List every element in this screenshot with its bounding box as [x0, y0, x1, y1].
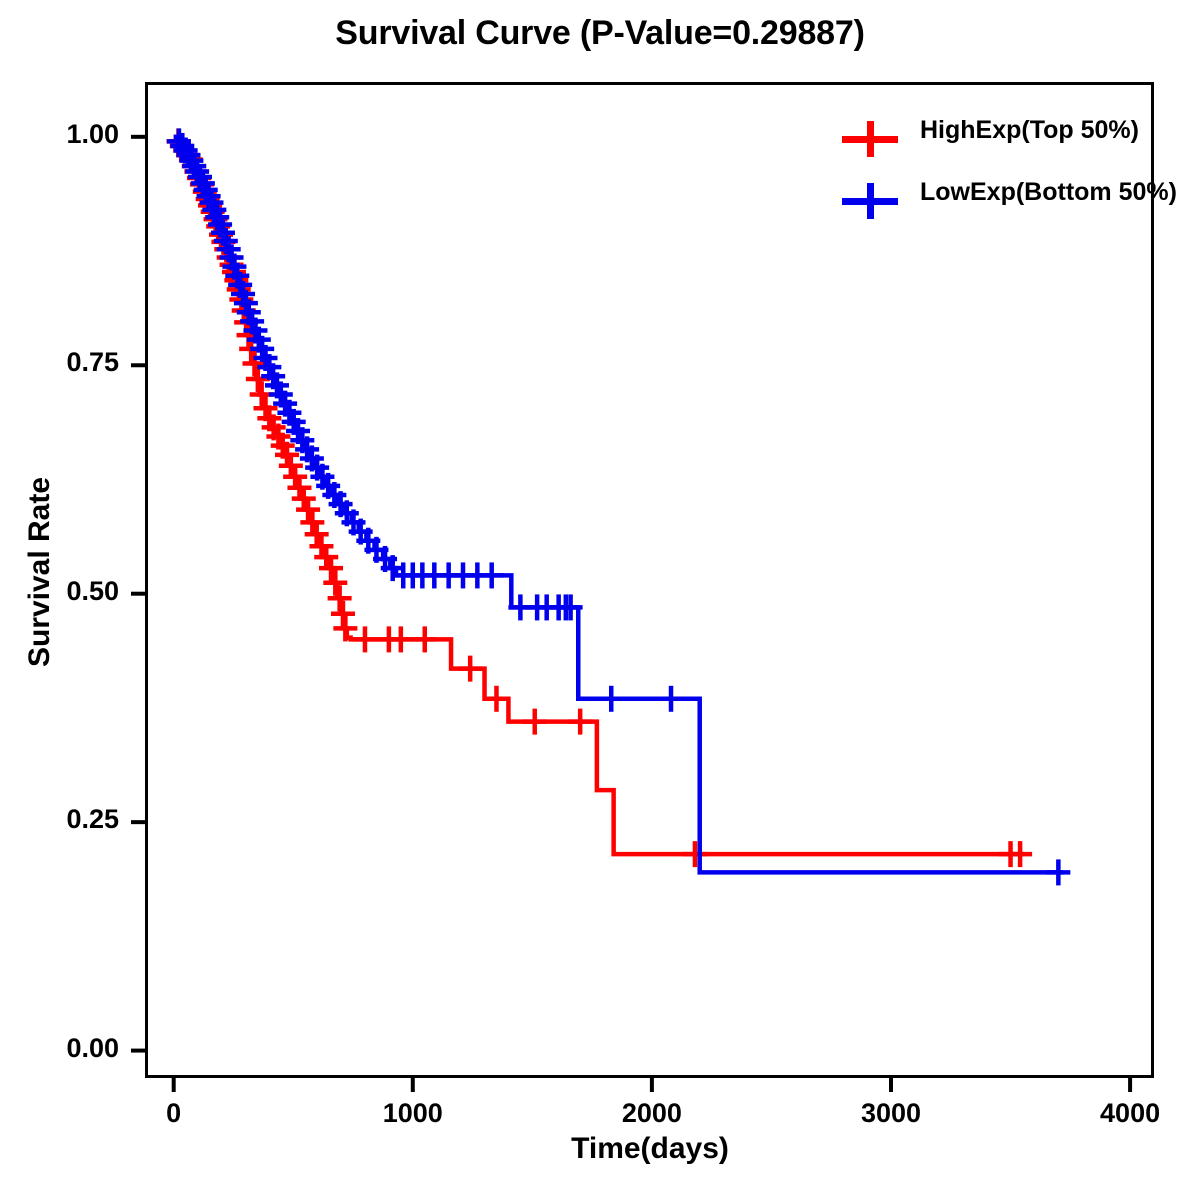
- y-tick-label: 0.75: [0, 347, 119, 378]
- x-tick-label: 3000: [821, 1098, 961, 1129]
- survival-curve-figure: Survival Curve (P-Value=0.29887) 0.000.2…: [0, 0, 1200, 1200]
- x-tick-label: 1000: [343, 1098, 483, 1129]
- y-tick-label: 0.00: [0, 1033, 119, 1064]
- plus-marker-icon: [842, 121, 898, 157]
- x-axis-title: Time(days): [350, 1132, 950, 1166]
- x-tick-label: 0: [104, 1098, 244, 1129]
- legend: HighExp(Top 50%) LowExp(Bottom 50%): [842, 108, 1182, 232]
- plus-marker-icon: [842, 183, 898, 219]
- legend-entry-low[interactable]: LowExp(Bottom 50%): [842, 170, 1182, 232]
- legend-label-high: HighExp(Top 50%): [920, 116, 1139, 145]
- y-tick-label: 0.50: [0, 576, 119, 607]
- x-tick-label: 4000: [1060, 1098, 1200, 1129]
- y-tick-label: 1.00: [0, 119, 119, 150]
- page-title: Survival Curve (P-Value=0.29887): [0, 14, 1200, 53]
- legend-label-low: LowExp(Bottom 50%): [920, 178, 1177, 207]
- y-tick-label: 0.25: [0, 804, 119, 835]
- legend-entry-high[interactable]: HighExp(Top 50%): [842, 108, 1182, 170]
- x-tick-label: 2000: [582, 1098, 722, 1129]
- y-axis-title: Survival Rate: [23, 422, 57, 722]
